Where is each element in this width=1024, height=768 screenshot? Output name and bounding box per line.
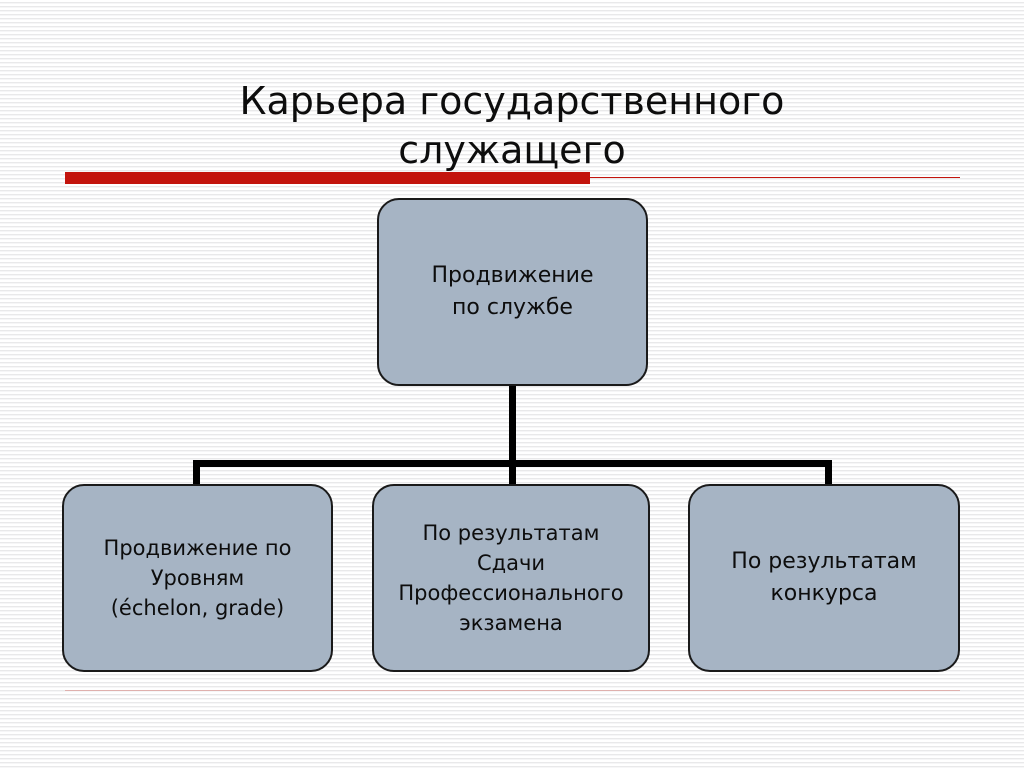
node-box-exam: По результатам Сдачи Профессионального э… <box>372 484 650 672</box>
node-box-competition: По результатам конкурса <box>688 484 960 672</box>
connector-drop-center <box>509 460 516 487</box>
node-box-promotion: Продвижение по службе <box>377 198 648 386</box>
node-label-promotion: Продвижение по службе <box>431 260 593 324</box>
footer-rule <box>65 690 960 691</box>
connector-drop-left <box>193 460 200 487</box>
node-box-levels: Продвижение по Уровням (échelon, grade) <box>62 484 333 672</box>
connector-drop-right <box>825 460 832 487</box>
title-accent-rule-thick <box>65 172 590 184</box>
page-title: Карьера государственного служащего <box>62 77 962 175</box>
node-label-competition: По результатам конкурса <box>731 546 916 610</box>
node-label-exam: По результатам Сдачи Профессионального э… <box>374 518 648 638</box>
connector-stem-vertical <box>509 383 516 467</box>
node-label-levels: Продвижение по Уровням (échelon, grade) <box>104 533 292 623</box>
slide-canvas: Карьера государственного служащего Продв… <box>0 0 1024 768</box>
